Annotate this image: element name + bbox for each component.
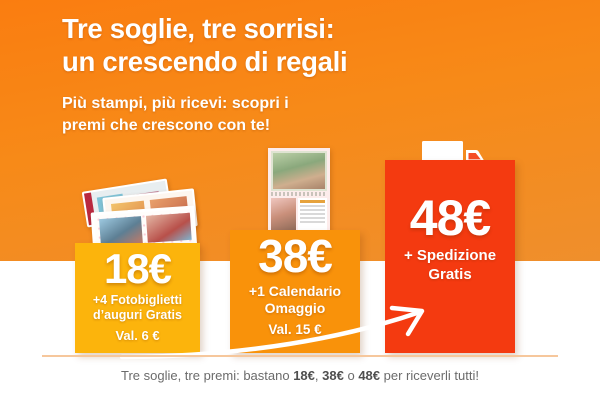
tier-3-price: 48€ — [385, 191, 515, 245]
calendar-grid-row — [300, 205, 325, 207]
tier-2-perk: +1 Calendario Omaggio — [234, 283, 356, 317]
wall-calendar-icon — [268, 148, 330, 234]
promo-banner: Tre soglie, tre sorrisi: un crescendo di… — [0, 0, 600, 400]
calendar-date-grid — [298, 198, 327, 231]
tier-3-perk-line-2: Gratis — [389, 265, 511, 284]
tier-2-perk-line-2: Omaggio — [234, 300, 356, 317]
page-title: Tre soglie, tre sorrisi: un crescendo di… — [62, 12, 492, 78]
headline-line-2: un crescendo di regali — [62, 45, 492, 78]
tier-2-value: Val. 15 € — [230, 322, 360, 337]
footer-price-2: 38€ — [322, 368, 344, 383]
footer-prefix: Tre soglie, tre premi: bastano — [121, 368, 293, 383]
calendar-photo-page — [271, 151, 327, 191]
tier-2-price: 38€ — [230, 231, 360, 281]
calendar-month-page — [271, 198, 327, 231]
calendar-photo — [273, 153, 325, 189]
calendar-grid-header — [300, 200, 325, 203]
footer-suffix: per riceverli tutti! — [380, 368, 479, 383]
tier-1-price: 18€ — [75, 246, 200, 292]
subheadline-line-1: Più stampi, più ricevi: scopri i — [62, 95, 289, 112]
card-photo — [99, 216, 143, 246]
tier-column-3[interactable]: 48€ + Spedizione Gratis — [385, 160, 515, 353]
tier-1-perk-line-1: +4 Fotobiglietti — [93, 293, 182, 307]
tier-2-perk-line-1: +1 Calendario — [249, 283, 341, 299]
tier-column-1[interactable]: 18€ +4 Fotobiglietti d’auguri Gratis Val… — [75, 243, 200, 353]
tier-1-perk: +4 Fotobiglietti d’auguri Gratis — [79, 293, 196, 323]
card-photo — [146, 213, 192, 243]
calendar-grid-row — [300, 209, 325, 211]
calendar-binding — [271, 192, 327, 196]
calendar-grid-row — [300, 217, 325, 219]
subheadline: Più stampi, più ricevi: scopri i premi c… — [62, 93, 462, 137]
calendar-grid-row — [300, 221, 325, 223]
footer-price-3: 48€ — [358, 368, 380, 383]
footer-price-1: 18€ — [293, 368, 315, 383]
subheadline-line-2: premi che crescono con te! — [62, 115, 462, 137]
tier-1-perk-line-2: d’auguri Gratis — [79, 308, 196, 323]
tier-column-2[interactable]: 38€ +1 Calendario Omaggio Val. 15 € — [230, 230, 360, 353]
calendar-grid-row — [300, 213, 325, 215]
calendar-photo — [271, 198, 296, 231]
footer-separator-2: o — [344, 368, 358, 383]
tier-3-perk: + Spedizione Gratis — [389, 246, 511, 284]
footer-divider — [42, 355, 558, 357]
footer-text: Tre soglie, tre premi: bastano 18€, 38€ … — [0, 367, 600, 385]
headline-line-1: Tre soglie, tre sorrisi: — [62, 13, 335, 44]
tier-3-perk-line-1: + Spedizione — [404, 247, 496, 264]
tier-1-value: Val. 6 € — [75, 328, 200, 343]
